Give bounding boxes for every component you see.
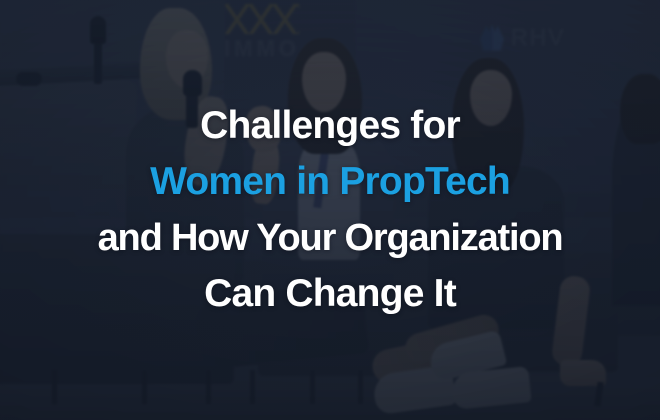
title-card-slide: IMMO RHV (0, 0, 660, 420)
title-line-1: Challenges for (0, 98, 660, 154)
title-line-4: Can Change It (0, 266, 660, 322)
slide-title: Challenges for Women in PropTech and How… (0, 98, 660, 322)
title-line-3: and How Your Organization (0, 210, 660, 266)
title-line-2-highlight: Women in PropTech (0, 154, 660, 210)
